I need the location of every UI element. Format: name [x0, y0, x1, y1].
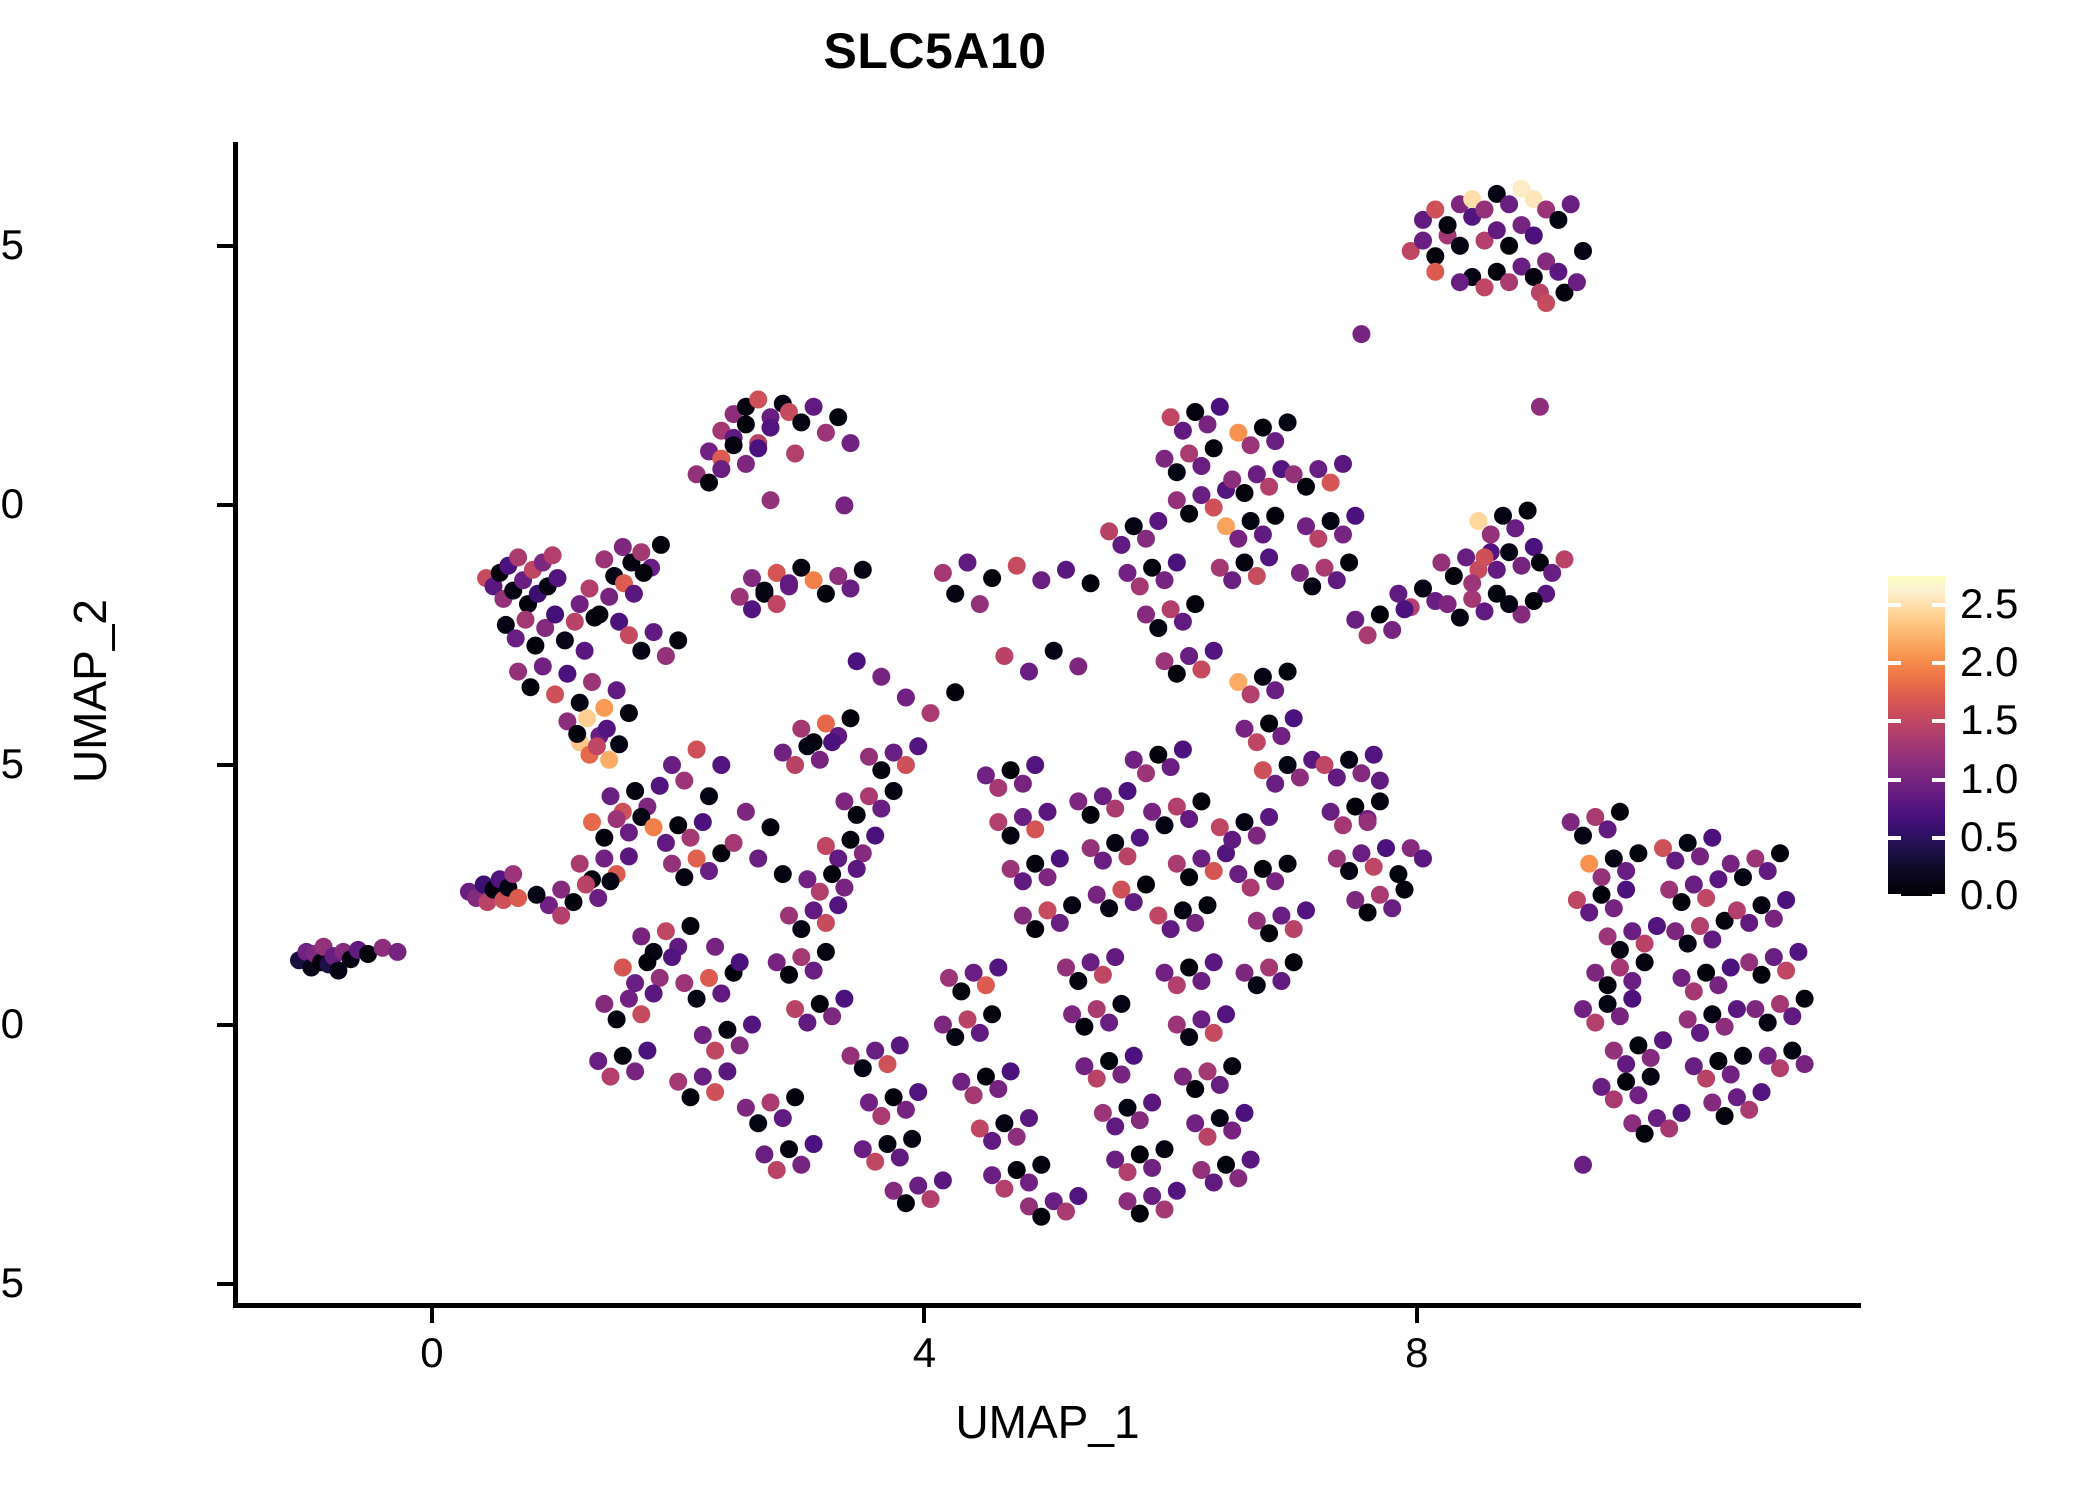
- scatter-point: [786, 445, 804, 463]
- scatter-point: [1599, 976, 1617, 994]
- scatter-point: [588, 737, 606, 755]
- scatter-point: [1697, 1070, 1715, 1088]
- scatter-point: [1642, 1068, 1660, 1086]
- scatter-point: [1291, 769, 1309, 787]
- scatter-point: [1716, 1107, 1734, 1125]
- scatter-point: [1192, 661, 1210, 679]
- scatter-point: [1636, 935, 1654, 953]
- scatter-point: [1629, 1086, 1647, 1104]
- scatter-point: [598, 720, 616, 738]
- scatter-point: [504, 865, 522, 883]
- scatter-point: [1131, 829, 1149, 847]
- scatter-point: [1334, 526, 1352, 544]
- scatter-point: [1605, 1042, 1623, 1060]
- scatter-point: [1192, 792, 1210, 810]
- scatter-point: [749, 850, 767, 868]
- scatter-point: [626, 1062, 644, 1080]
- scatter-point: [1205, 642, 1223, 660]
- y-axis-title: UMAP_2: [63, 291, 117, 1091]
- scatter-point: [1574, 827, 1592, 845]
- scatter-point: [1285, 709, 1303, 727]
- scatter-point: [798, 737, 816, 755]
- scatter-point: [1032, 571, 1050, 589]
- scatter-point: [1082, 574, 1100, 592]
- colorbar-tick-mark: [1888, 719, 1901, 723]
- x-tick-label: 4: [864, 1332, 984, 1374]
- scatter-point: [1414, 850, 1432, 868]
- scatter-point: [1476, 201, 1494, 219]
- scatter-point: [1753, 896, 1771, 914]
- scatter-point: [608, 681, 626, 699]
- scatter-point: [1162, 920, 1180, 938]
- scatter-point: [780, 907, 798, 925]
- scatter-point: [786, 1000, 804, 1018]
- scatter-point: [1771, 1059, 1789, 1077]
- scatter-point: [903, 1130, 921, 1148]
- scatter-point: [1445, 567, 1463, 585]
- scatter-point: [1636, 953, 1654, 971]
- scatter-point: [762, 818, 780, 836]
- scatter-point: [1100, 1052, 1118, 1070]
- scatter-point: [1759, 862, 1777, 880]
- scatter-point: [1279, 663, 1297, 681]
- scatter-point: [1673, 893, 1691, 911]
- scatter-point: [891, 1149, 909, 1167]
- scatter-point: [731, 1036, 749, 1054]
- scatter-point: [1734, 1047, 1752, 1065]
- scatter-point: [675, 772, 693, 790]
- scatter-point: [1063, 896, 1081, 914]
- scatter-point: [583, 673, 601, 691]
- scatter-point: [1205, 953, 1223, 971]
- scatter-point: [749, 439, 767, 457]
- scatter-point: [1119, 1163, 1137, 1181]
- scatter-point: [1156, 1201, 1174, 1219]
- scatter-point: [1039, 803, 1057, 821]
- scatter-point: [556, 631, 574, 649]
- scatter-point: [792, 920, 810, 938]
- scatter-point: [1396, 881, 1414, 899]
- scatter-point: [632, 1005, 650, 1023]
- scatter-point: [1094, 966, 1112, 984]
- scatter-point: [620, 824, 638, 842]
- scatter-point: [558, 665, 576, 683]
- scatter-point: [1691, 917, 1709, 935]
- scatter-point: [1525, 227, 1543, 245]
- scatter-point: [1309, 530, 1327, 548]
- scatter-point: [737, 803, 755, 821]
- y-tick-label: 5.0: [0, 483, 24, 525]
- scatter-point: [1451, 273, 1469, 291]
- y-tick-mark: [217, 244, 233, 248]
- plot-panel: [235, 142, 1860, 1305]
- scatter-point: [1734, 868, 1752, 886]
- scatter-point: [1192, 457, 1210, 475]
- figure-root: SLC5A10 7.55.02.50.0-2.5 048 UMAP_1 UMAP…: [0, 0, 2100, 1500]
- scatter-point: [1309, 460, 1327, 478]
- scatter-point: [1679, 1010, 1697, 1028]
- scatter-point: [1106, 834, 1124, 852]
- scatter-point: [817, 585, 835, 603]
- scatter-point: [983, 1005, 1001, 1023]
- scatter-point: [657, 922, 675, 940]
- scatter-point: [1254, 526, 1272, 544]
- scatter-point: [614, 538, 632, 556]
- scatter-point: [608, 810, 626, 828]
- scatter-point: [635, 564, 653, 582]
- scatter-point: [1002, 827, 1020, 845]
- scatter-point: [1088, 1070, 1106, 1088]
- colorbar-tick-label: 0.5: [1960, 816, 2018, 858]
- scatter-point: [1199, 1128, 1217, 1146]
- scatter-point: [989, 779, 1007, 797]
- scatter-point: [602, 787, 620, 805]
- scatter-point: [1192, 1010, 1210, 1028]
- scatter-point: [1556, 550, 1574, 568]
- y-tick-mark: [217, 1023, 233, 1027]
- scatter-point: [526, 637, 544, 655]
- scatter-point: [1242, 879, 1260, 897]
- scatter-point: [546, 685, 564, 703]
- scatter-point: [749, 1114, 767, 1132]
- scatter-point: [842, 831, 860, 849]
- scatter-point: [1322, 512, 1340, 530]
- scatter-point: [1654, 1031, 1672, 1049]
- scatter-point: [1014, 872, 1032, 890]
- scatter-point: [1500, 595, 1518, 613]
- scatter-point: [1617, 881, 1635, 899]
- scatter-point: [817, 914, 835, 932]
- scatter-point: [568, 725, 586, 743]
- scatter-point: [1156, 450, 1174, 468]
- scatter-point: [1069, 972, 1087, 990]
- scatter-point: [1623, 990, 1641, 1008]
- scatter-point: [595, 699, 613, 717]
- scatter-point: [1574, 242, 1592, 260]
- scatter-point: [571, 855, 589, 873]
- scatter-point: [1156, 571, 1174, 589]
- scatter-point: [1168, 855, 1186, 873]
- scatter-point: [1039, 868, 1057, 886]
- colorbar-tick-label: 2.0: [1960, 641, 2018, 683]
- scatter-point: [600, 588, 618, 606]
- scatter-point: [1722, 1066, 1740, 1084]
- scatter-point: [1500, 543, 1518, 561]
- scatter-point: [1469, 512, 1487, 530]
- scatter-point: [1673, 1104, 1691, 1122]
- scatter-point: [866, 827, 884, 845]
- y-tick-mark: [217, 1282, 233, 1286]
- scatter-point: [1771, 844, 1789, 862]
- scatter-point: [1137, 606, 1155, 624]
- scatter-point: [1543, 564, 1561, 582]
- scatter-point: [1322, 474, 1340, 492]
- scatter-point: [1272, 907, 1290, 925]
- scatter-point: [1186, 1114, 1204, 1132]
- scatter-point: [792, 1156, 810, 1174]
- scatter-point: [1340, 554, 1358, 572]
- scatter-point: [1451, 609, 1469, 627]
- scatter-point: [1297, 478, 1315, 496]
- scatter-point: [1223, 1057, 1241, 1075]
- scatter-point: [620, 704, 638, 722]
- scatter-point: [1119, 847, 1137, 865]
- scatter-point: [1168, 491, 1186, 509]
- scatter-point: [632, 927, 650, 945]
- scatter-point: [1248, 827, 1266, 845]
- scatter-point: [1352, 764, 1370, 782]
- scatter-point: [1180, 505, 1198, 523]
- scatter-point: [571, 595, 589, 613]
- scatter-point: [522, 678, 540, 696]
- scatter-point: [1488, 561, 1506, 579]
- scatter-point: [638, 1042, 656, 1060]
- scatter-point: [1143, 1159, 1161, 1177]
- x-tick-mark: [1415, 1307, 1419, 1323]
- scatter-point: [1026, 920, 1044, 938]
- scatter-point: [1611, 959, 1629, 977]
- scatter-point: [1217, 1005, 1235, 1023]
- scatter-point: [1008, 1128, 1026, 1146]
- scatter-point: [1180, 868, 1198, 886]
- scatter-point: [1223, 1122, 1241, 1140]
- scatter-point: [1525, 538, 1543, 556]
- scatter-point: [1346, 507, 1364, 525]
- scatter-point: [1605, 1090, 1623, 1108]
- scatter-point: [1162, 408, 1180, 426]
- scatter-point: [1432, 554, 1450, 572]
- page-title: SLC5A10: [0, 22, 1870, 80]
- scatter-point: [743, 600, 761, 618]
- scatter-point: [835, 496, 853, 514]
- scatter-point: [1679, 935, 1697, 953]
- x-tick-label: 8: [1357, 1332, 1477, 1374]
- scatter-point: [1205, 1024, 1223, 1042]
- scatter-point: [1014, 907, 1032, 925]
- scatter-point: [1199, 1062, 1217, 1080]
- scatter-point: [712, 756, 730, 774]
- scatter-point: [657, 647, 675, 665]
- scatter-point: [645, 985, 663, 1003]
- scatter-point: [1673, 969, 1691, 987]
- scatter-point: [860, 1094, 878, 1112]
- scatter-point: [1125, 1047, 1143, 1065]
- scatter-point: [1759, 1014, 1777, 1032]
- scatter-point: [1199, 415, 1217, 433]
- scatter-point: [1765, 948, 1783, 966]
- scatter-point: [1223, 831, 1241, 849]
- scatter-point: [1580, 904, 1598, 922]
- scatter-point: [688, 741, 706, 759]
- scatter-point: [1439, 595, 1457, 613]
- scatter-point: [842, 580, 860, 598]
- scatter-point: [706, 1042, 724, 1060]
- scatter-point: [768, 1161, 786, 1179]
- scatter-point: [1217, 1156, 1235, 1174]
- scatter-point: [1186, 1080, 1204, 1098]
- scatter-point: [1359, 626, 1377, 644]
- scatter-point: [614, 1047, 632, 1065]
- scatter-point: [829, 850, 847, 868]
- scatter-point: [1476, 278, 1494, 296]
- scatter-point: [1119, 564, 1137, 582]
- scatter-point: [1205, 499, 1223, 517]
- scatter-point: [725, 834, 743, 852]
- scatter-point: [1137, 876, 1155, 894]
- scatter-point: [1131, 577, 1149, 595]
- scatter-point: [897, 1194, 915, 1212]
- scatter-point: [1599, 820, 1617, 838]
- scatter-point: [1008, 557, 1026, 575]
- scatter-point: [688, 990, 706, 1008]
- scatter-point: [1623, 972, 1641, 990]
- scatter-point: [682, 917, 700, 935]
- scatter-point: [792, 413, 810, 431]
- scatter-point: [1593, 868, 1611, 886]
- scatter-point: [663, 855, 681, 873]
- scatter-point: [1740, 1101, 1758, 1119]
- scatter-point: [1648, 917, 1666, 935]
- scatter-point: [1789, 943, 1807, 961]
- scatter-point: [581, 580, 599, 598]
- scatter-point: [1279, 413, 1297, 431]
- scatter-point: [1248, 733, 1266, 751]
- scatter-point: [1562, 813, 1580, 831]
- scatter-point: [1340, 751, 1358, 769]
- scatter-point: [1248, 567, 1266, 585]
- x-axis-line: [233, 1303, 1861, 1308]
- scatter-point: [1359, 904, 1377, 922]
- scatter-point: [1728, 1000, 1746, 1018]
- scatter-point: [743, 1016, 761, 1034]
- scatter-point: [712, 985, 730, 1003]
- scatter-point: [1703, 829, 1721, 847]
- scatter-point: [1168, 976, 1186, 994]
- scatter-point: [1377, 839, 1395, 857]
- scatter-point: [509, 663, 527, 681]
- scatter-point: [652, 536, 670, 554]
- scatter-point: [823, 733, 841, 751]
- scatter-point: [1359, 813, 1377, 831]
- scatter-point: [1205, 1174, 1223, 1192]
- y-tick-label: 7.5: [0, 224, 24, 266]
- scatter-points-layer: [235, 142, 1860, 1305]
- scatter-point: [879, 1055, 897, 1073]
- colorbar-tick-mark: [1932, 894, 1945, 898]
- scatter-point: [1137, 530, 1155, 548]
- scatter-point: [1303, 577, 1321, 595]
- scatter-point: [805, 571, 823, 589]
- scatter-point: [590, 606, 608, 624]
- scatter-point: [546, 606, 564, 624]
- scatter-point: [1740, 914, 1758, 932]
- scatter-point: [946, 1028, 964, 1046]
- scatter-point: [842, 709, 860, 727]
- scatter-point: [1500, 273, 1518, 291]
- scatter-point: [595, 995, 613, 1013]
- scatter-point: [1026, 855, 1044, 873]
- scatter-point: [1426, 201, 1444, 219]
- scatter-point: [1112, 995, 1130, 1013]
- scatter-point: [1100, 522, 1118, 540]
- scatter-point: [1125, 751, 1143, 769]
- scatter-point: [595, 829, 613, 847]
- scatter-point: [595, 850, 613, 868]
- scatter-point: [1032, 1156, 1050, 1174]
- scatter-point: [1174, 422, 1192, 440]
- colorbar-tick-mark: [1932, 719, 1945, 723]
- scatter-point: [762, 419, 780, 437]
- scatter-point: [1783, 1007, 1801, 1025]
- y-tick-mark: [217, 763, 233, 767]
- scatter-point: [909, 737, 927, 755]
- scatter-point: [1143, 1187, 1161, 1205]
- scatter-point: [940, 969, 958, 987]
- scatter-point: [602, 1068, 620, 1086]
- scatter-point: [1525, 268, 1543, 286]
- scatter-point: [1352, 844, 1370, 862]
- scatter-point: [934, 1171, 952, 1189]
- scatter-point: [1285, 953, 1303, 971]
- x-tick-label: 0: [372, 1332, 492, 1374]
- scatter-point: [842, 434, 860, 452]
- scatter-point: [576, 642, 594, 660]
- scatter-point: [1463, 574, 1481, 592]
- scatter-point: [1266, 432, 1284, 450]
- scatter-point: [1075, 1018, 1093, 1036]
- scatter-point: [1057, 561, 1075, 579]
- scatter-point: [1272, 727, 1290, 745]
- scatter-point: [1260, 478, 1278, 496]
- scatter-point: [866, 1042, 884, 1060]
- scatter-point: [1426, 263, 1444, 281]
- scatter-point: [620, 847, 638, 865]
- scatter-point: [1340, 862, 1358, 880]
- scatter-point: [1149, 619, 1167, 637]
- scatter-point: [1186, 595, 1204, 613]
- colorbar-tick-mark: [1932, 603, 1945, 607]
- scatter-point: [706, 1083, 724, 1101]
- scatter-point: [1229, 865, 1247, 883]
- scatter-point: [632, 543, 650, 561]
- scatter-point: [1617, 862, 1635, 880]
- colorbar-tick-label: 0.0: [1960, 874, 2018, 916]
- scatter-point: [989, 959, 1007, 977]
- scatter-point: [1242, 436, 1260, 454]
- scatter-point: [965, 1086, 983, 1104]
- scatter-point: [1488, 221, 1506, 239]
- scatter-point: [1026, 756, 1044, 774]
- scatter-point: [1796, 990, 1814, 1008]
- scatter-point: [1414, 232, 1432, 250]
- scatter-point: [694, 1068, 712, 1086]
- scatter-point: [1069, 792, 1087, 810]
- scatter-point: [989, 813, 1007, 831]
- scatter-point: [1722, 959, 1740, 977]
- scatter-point: [638, 953, 656, 971]
- scatter-point: [1100, 899, 1118, 917]
- scatter-point: [774, 865, 792, 883]
- scatter-point: [1574, 1000, 1592, 1018]
- scatter-point: [891, 1036, 909, 1054]
- scatter-point: [602, 872, 620, 890]
- scatter-point: [897, 756, 915, 774]
- scatter-point: [600, 751, 618, 769]
- scatter-point: [1260, 924, 1278, 942]
- scatter-point: [1168, 554, 1186, 572]
- scatter-point: [1666, 852, 1684, 870]
- scatter-point: [1279, 855, 1297, 873]
